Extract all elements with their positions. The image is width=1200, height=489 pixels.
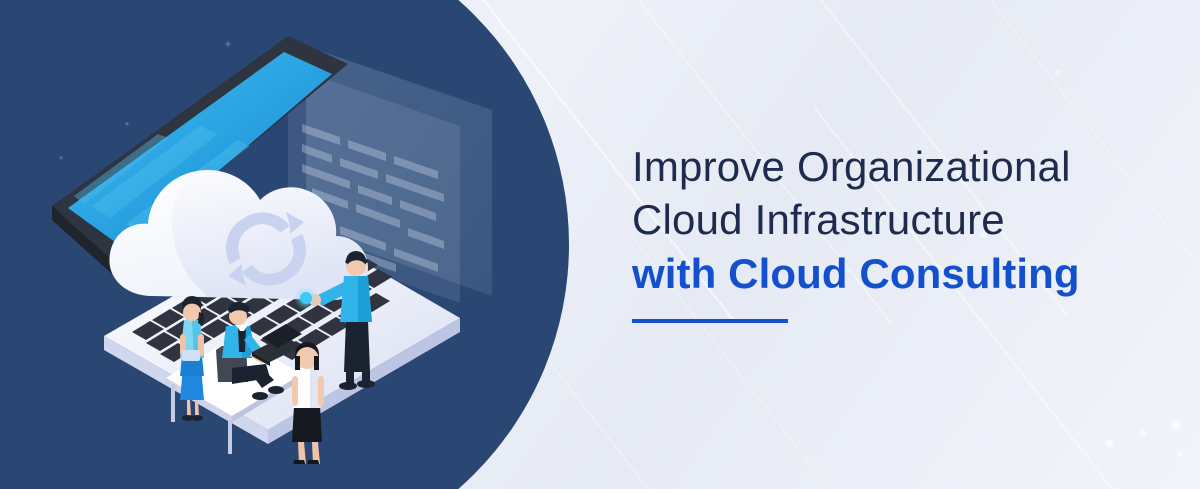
headline-line-2: Cloud Infrastructure — [632, 193, 1152, 246]
headline-block: Improve Organizational Cloud Infrastruct… — [632, 140, 1152, 323]
headline-accent-line: with Cloud Consulting — [632, 246, 1152, 302]
accent-underline — [632, 319, 788, 323]
headline-line-1: Improve Organizational — [632, 140, 1152, 193]
isometric-cloud-consulting-illustration — [40, 28, 500, 464]
hero-banner: Improve Organizational Cloud Infrastruct… — [0, 0, 1200, 489]
